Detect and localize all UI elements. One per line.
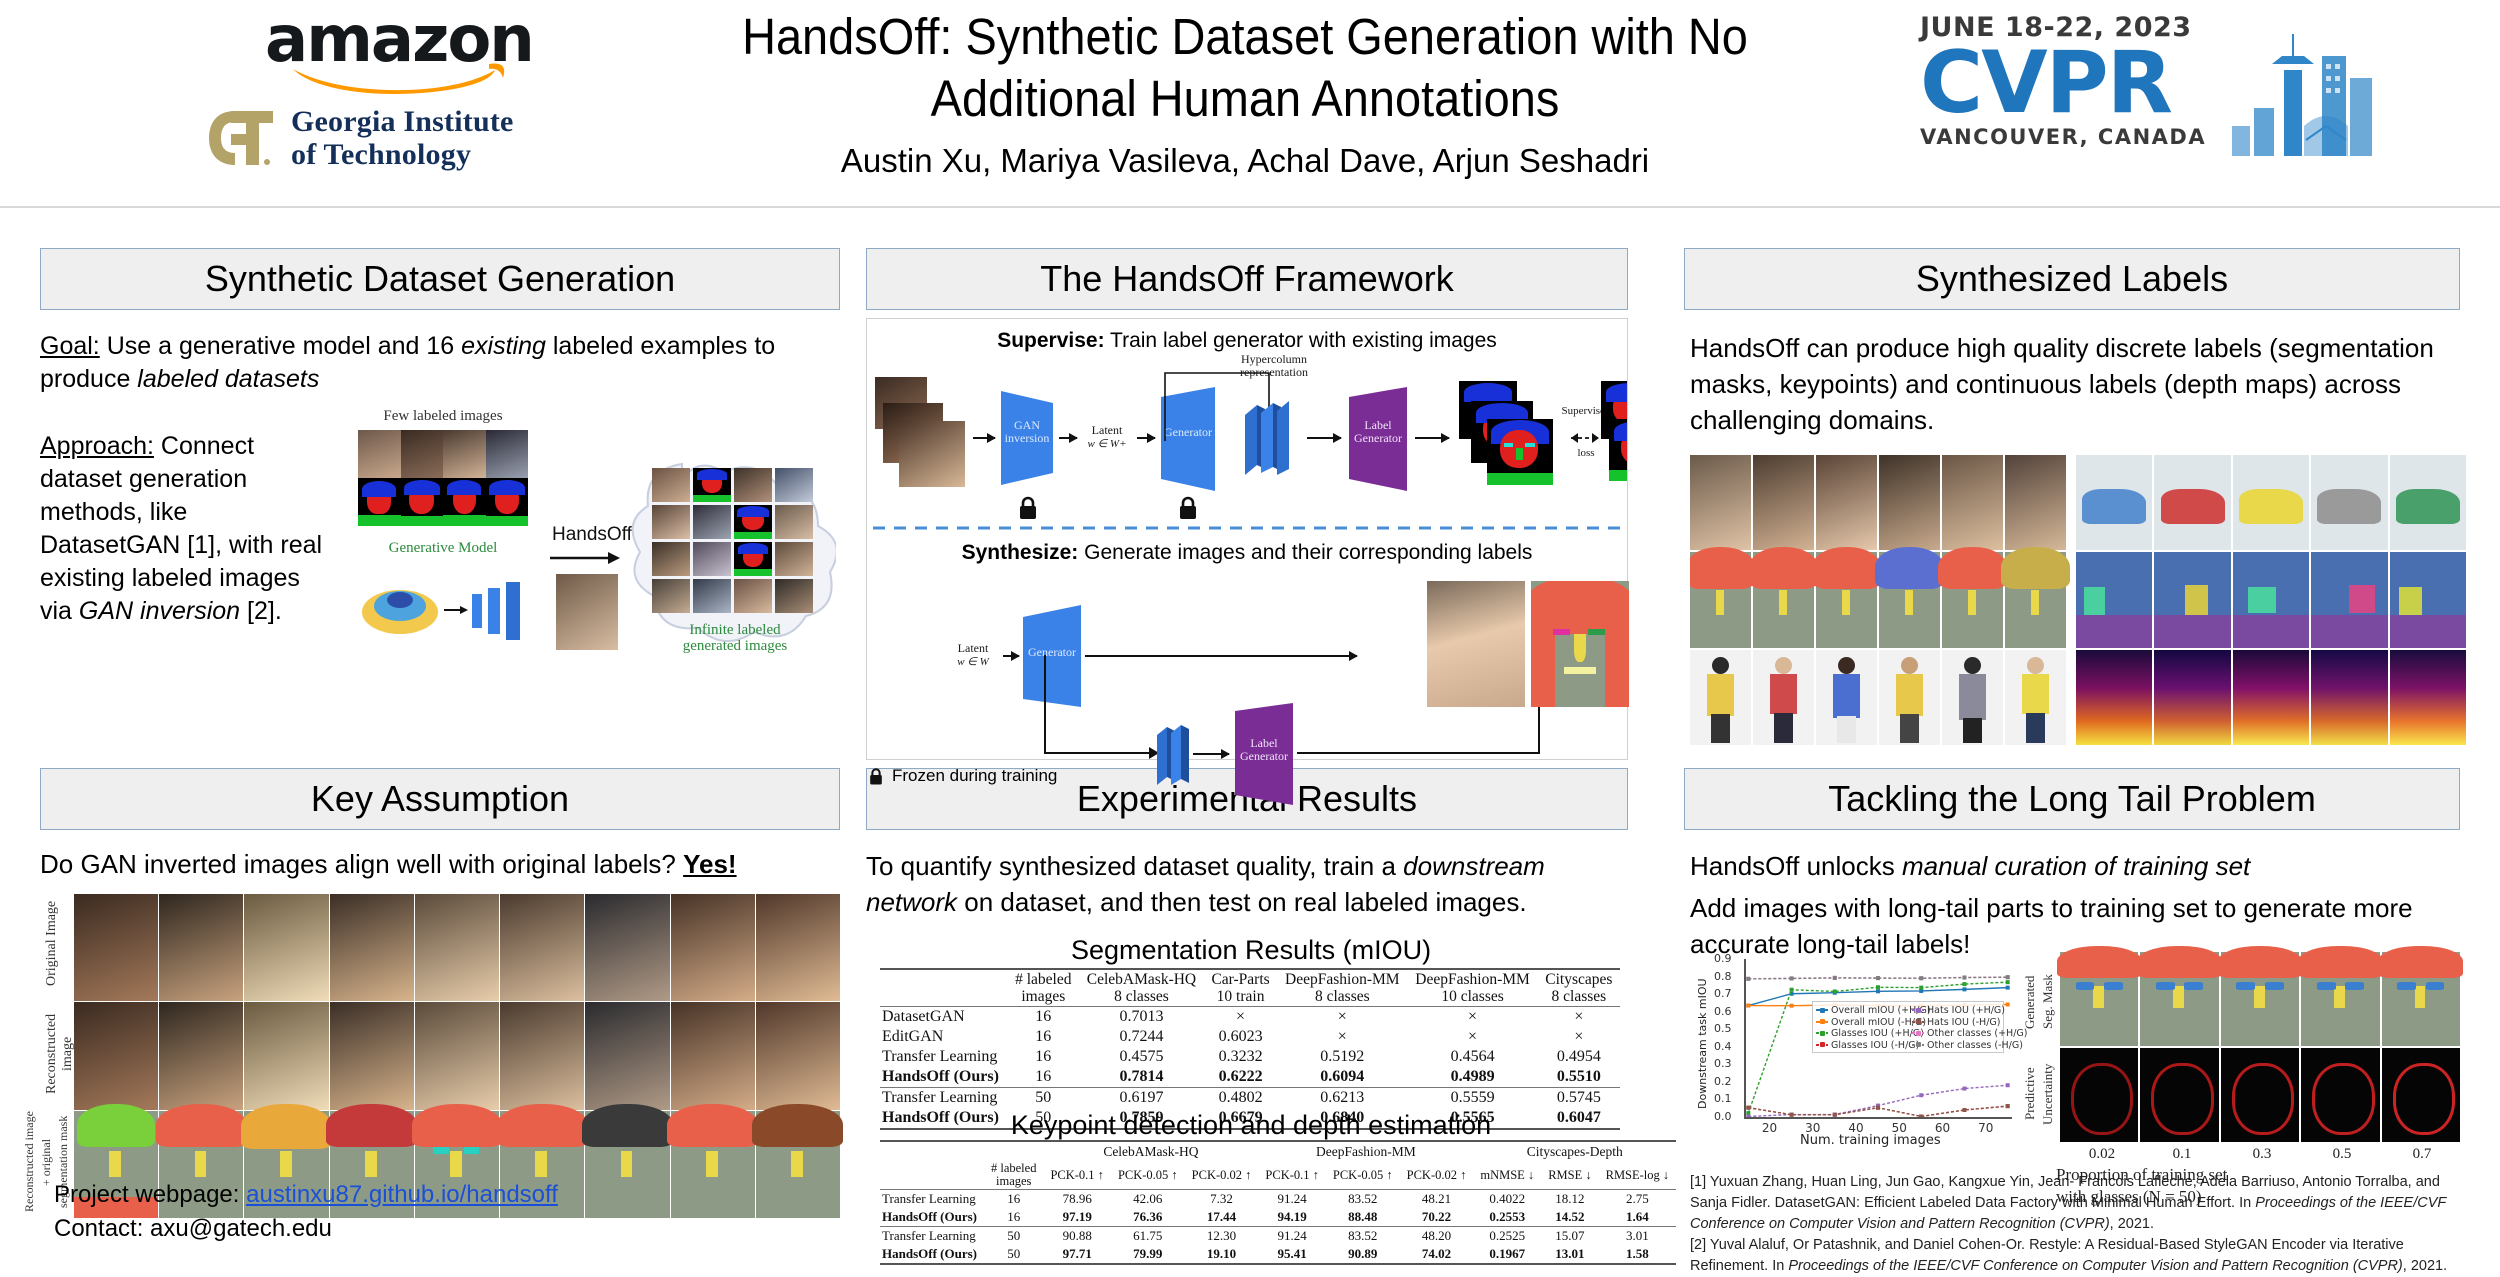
- thumb-uncertainty: [2382, 1048, 2460, 1142]
- seg-cell: 0.5510: [1538, 1067, 1620, 1088]
- segmentation-table-title: Segmentation Results (mIOU): [866, 935, 1636, 966]
- latent-word: Latent: [1079, 423, 1135, 437]
- gt-wordmark: Georgia Institute of Technology: [291, 105, 514, 171]
- thumb-mask: [1753, 552, 1814, 647]
- chart-ylabel: Downstream task mIOU: [1696, 963, 1712, 1125]
- thumb-mask: [734, 542, 772, 576]
- framework-diagram: Supervise: Train label generator with ex…: [866, 318, 1628, 760]
- legend-marker: [1820, 1042, 1825, 1047]
- frozen-note: Frozen during training: [868, 766, 1057, 786]
- reference-1-b: , 2021.: [2110, 1216, 2154, 1232]
- thumb-car: [2390, 455, 2466, 550]
- legend-marker: [1916, 1008, 1921, 1013]
- latent-word-2: Latent: [945, 641, 1001, 655]
- section-header-handsoff-framework: The HandsOff Framework: [866, 248, 1628, 310]
- ground-truth-mask-stack: [1601, 381, 1627, 485]
- kp-method-name: Transfer Learning: [880, 1227, 984, 1246]
- seg-cell: 16: [1008, 1047, 1079, 1067]
- vlabel-generated-seg-mask-b: Seg. Mask: [2040, 960, 2056, 1044]
- vancouver-skyline-icon: [2230, 30, 2380, 158]
- seg-cell: 0.6213: [1277, 1088, 1407, 1109]
- section-header-long-tail: Tackling the Long Tail Problem: [1684, 768, 2460, 830]
- seg-cell: ×: [1538, 1007, 1620, 1028]
- thumb-uncertainty: [2060, 1048, 2138, 1142]
- thumb-mask: [1942, 552, 2003, 647]
- kp-cell: 78.96: [1043, 1190, 1110, 1209]
- arrow-to-generator: [1137, 437, 1155, 439]
- kp-cell: 94.19: [1258, 1208, 1325, 1227]
- thumb-original: [244, 894, 328, 1001]
- thumb: [652, 542, 690, 576]
- thumb-mask: [358, 478, 401, 526]
- thumb: [693, 579, 731, 613]
- kp-col-header: PCK-0.02 ↑: [1400, 1161, 1474, 1190]
- thumb-seg-mask: [2140, 952, 2218, 1046]
- seg-cell: 0.7814: [1079, 1067, 1204, 1088]
- frozen-note-text: Frozen during training: [892, 766, 1057, 786]
- thumb-reconstructed: [415, 1002, 499, 1109]
- seg-cell: 16: [1008, 1027, 1079, 1047]
- kp-cell: 76.36: [1111, 1208, 1185, 1227]
- kp-cell: 7.32: [1185, 1190, 1259, 1209]
- kp-group-header: DeepFashion-MM: [1258, 1141, 1473, 1161]
- arrow-to-label-generator: [1307, 437, 1341, 439]
- thumb-original: [415, 894, 499, 1001]
- synthesized-mask-image: [1531, 581, 1629, 707]
- experimental-results-intro: To quantify synthesized dataset quality,…: [866, 848, 1636, 920]
- kp-cell: 1.58: [1599, 1245, 1677, 1264]
- thumb: [652, 468, 690, 502]
- thumb-overlay-mask: [756, 1111, 840, 1218]
- chart-ytick: 0.7: [1714, 987, 1732, 1000]
- key-assumption-answer: Yes!: [683, 849, 737, 879]
- thumb-mask: [486, 478, 529, 526]
- vlabel-generated-seg-mask-a: Generated: [2022, 960, 2038, 1044]
- thumb: [1879, 455, 1940, 550]
- supervise-bold: Supervise:: [997, 329, 1104, 352]
- georgia-tech-logo: Georgia Institute of Technology: [205, 100, 595, 175]
- thumb: [1816, 455, 1877, 550]
- vlabel-predictive-uncertainty-a: Predictive: [2022, 1052, 2038, 1136]
- dataset-generation-figure: Few labeled images: [330, 408, 840, 738]
- kp-cell: 13.01: [1541, 1245, 1598, 1264]
- long-tail-image-strip: [2060, 952, 2460, 1142]
- cvpr-logo: JUNE 18-22, 2023 CVPR VANCOUVER, CANADA: [1920, 12, 2380, 172]
- chart-marker: [1746, 1106, 1750, 1110]
- figure-label-generative-model: Generative Model: [338, 540, 548, 557]
- thumb-original: [585, 894, 669, 1001]
- thumb: [693, 542, 731, 576]
- arrow-to-gan-inversion: [973, 437, 995, 439]
- legend-label: Other classes (+H/G): [1927, 1028, 2027, 1039]
- chart-marker: [1962, 1087, 1966, 1091]
- kp-cell: 79.99: [1111, 1245, 1185, 1264]
- seg-cell: 0.7244: [1079, 1027, 1204, 1047]
- thumb-mask: [734, 505, 772, 539]
- kp-cell: 61.75: [1111, 1227, 1185, 1246]
- input-image-stack: [875, 377, 971, 481]
- key-assumption-grid: [74, 894, 840, 1218]
- long-tail-line1: HandsOff unlocks manual curation of trai…: [1690, 848, 2470, 884]
- table-row: HandsOff (Ours)160.78140.62220.60940.498…: [880, 1067, 1620, 1088]
- legend-label: Glasses IOU (+H/G): [1831, 1028, 1924, 1039]
- latent-space-2: w ∈ W: [945, 655, 1001, 669]
- kp-col-header: # labeledimages: [984, 1161, 1043, 1190]
- chart-marker: [1962, 976, 1966, 980]
- kp-cell: 16: [984, 1208, 1043, 1227]
- hypercolumn-block-2: [1153, 719, 1211, 795]
- thumb-seg-mask: [2382, 952, 2460, 1046]
- supervise-rest: Train label generator with existing imag…: [1105, 329, 1497, 352]
- poster-header: amazon Georgia Institute of Technology: [0, 0, 2500, 208]
- goal-italic: existing: [461, 332, 546, 360]
- seg-cell: ×: [1407, 1007, 1537, 1028]
- thumb-car: [2233, 455, 2309, 550]
- seg-cell: 0.4989: [1407, 1067, 1537, 1088]
- chart-marker: [1919, 986, 1923, 990]
- thumb: [734, 468, 772, 502]
- thumb-reconstructed: [74, 1002, 158, 1109]
- seg-cell: 0.6023: [1204, 1027, 1277, 1047]
- table-row: DatasetGAN160.7013××××: [880, 1007, 1620, 1028]
- thumb-mask: [2005, 552, 2066, 647]
- thumb: [1753, 455, 1814, 550]
- chart-xtick: 20: [1762, 1121, 1777, 1135]
- proportion-tick: 0.5: [2322, 1146, 2362, 1163]
- thumb: [401, 430, 444, 478]
- intro-text-b: on dataset, and then test on real labele…: [957, 887, 1527, 917]
- seg-cell: 0.7013: [1079, 1007, 1204, 1028]
- amazon-logo: amazon: [265, 8, 540, 88]
- kp-cell: 50: [984, 1227, 1043, 1246]
- kp-cell: 97.71: [1043, 1245, 1110, 1264]
- chart-ytick: 0.6: [1714, 1005, 1732, 1018]
- row-label-original-image: Original Image: [44, 898, 62, 988]
- legend-marker: [1916, 1042, 1921, 1047]
- kp-method-name: HandsOff (Ours): [880, 1208, 984, 1227]
- poster-root: amazon Georgia Institute of Technology: [0, 0, 2500, 1250]
- kp-group-header: Cityscapes-Depth: [1473, 1141, 1676, 1161]
- thumb-mask: [1816, 552, 1877, 647]
- supervised-loss-arrow: [1565, 427, 1605, 449]
- contact-line: Contact: axu@gatech.edu: [54, 1212, 558, 1246]
- thumb-car: [2076, 455, 2152, 550]
- chart-ytick: 0.3: [1714, 1057, 1732, 1070]
- keypoint-depth-table: CelebAMask-HQDeepFashion-MMCityscapes-De…: [880, 1140, 1676, 1265]
- long-tail-line-chart: Downstream task mIOU 0.00.10.20.30.40.50…: [1700, 955, 2030, 1145]
- thumb-street-seg: [2154, 552, 2230, 647]
- project-webpage-line: Project webpage: austinxu87.github.io/ha…: [54, 1178, 558, 1212]
- section-title-text: Synthetic Dataset Generation: [205, 258, 675, 300]
- thumb-seg-mask: [2301, 952, 2379, 1046]
- seg-cell: 0.6094: [1277, 1067, 1407, 1088]
- thumb-original: [74, 894, 158, 1001]
- kp-cell: 1.64: [1599, 1208, 1677, 1227]
- kp-cell: 14.52: [1541, 1208, 1598, 1227]
- chart-ytick: 0.5: [1714, 1022, 1732, 1035]
- hypercolumn-block: [1239, 395, 1303, 481]
- chart-marker: [1833, 989, 1837, 993]
- thumb-uncertainty: [2301, 1048, 2379, 1142]
- seg-cell: 0.6222: [1204, 1067, 1277, 1088]
- thumb: [734, 579, 772, 613]
- kp-col-header: RMSE-log ↓: [1599, 1161, 1677, 1190]
- chart-marker: [1962, 1108, 1966, 1112]
- synthesize-bold: Synthesize:: [962, 541, 1079, 564]
- chart-xtick: 70: [1978, 1121, 1993, 1135]
- seg-col-header: DeepFashion-MM8 classes: [1277, 969, 1407, 1007]
- thumb: [775, 468, 813, 502]
- legend-marker: [1916, 1019, 1921, 1024]
- segmentation-results-table: # labeledimagesCelebAMask-HQ8 classesCar…: [880, 968, 1620, 1130]
- gt-monogram-icon: [205, 107, 277, 169]
- seg-col-header: Cityscapes8 classes: [1538, 969, 1620, 1007]
- thumb-uncertainty: [2221, 1048, 2299, 1142]
- thumb-mask: [1879, 552, 1940, 647]
- legend-marker: [1916, 1031, 1921, 1036]
- figure-label-few-labeled: Few labeled images: [338, 408, 548, 425]
- thumb: [775, 542, 813, 576]
- generated-images-grid: [652, 468, 818, 618]
- approach-label: Approach:: [40, 432, 154, 460]
- seg-method-name: DatasetGAN: [880, 1007, 1008, 1028]
- thumb-uncertainty: [2140, 1048, 2218, 1142]
- chart-marker: [2006, 1083, 2010, 1087]
- kp-cell: 17.44: [1185, 1208, 1259, 1227]
- kp-cell: 91.24: [1258, 1227, 1325, 1246]
- chart-marker: [1790, 976, 1794, 980]
- seg-method-name: HandsOff (Ours): [880, 1067, 1008, 1088]
- reference-2-italic: Proceedings of the IEEE/CVF Conference o…: [1788, 1258, 2402, 1274]
- chart-marker: [1790, 988, 1794, 992]
- kp-col-header: mNMSE ↓: [1473, 1161, 1541, 1190]
- project-webpage-link[interactable]: austinxu87.github.io/handsoff: [246, 1181, 558, 1208]
- chart-marker: [1962, 987, 1966, 991]
- thumb-mask: [401, 478, 444, 526]
- kp-cell: 83.52: [1326, 1227, 1400, 1246]
- seg-cell: 0.5559: [1407, 1088, 1537, 1109]
- synthesized-face-image: [1427, 581, 1525, 707]
- chart-marker: [1919, 1093, 1923, 1097]
- seg-method-name: Transfer Learning: [880, 1047, 1008, 1067]
- seg-cell: 0.5745: [1538, 1088, 1620, 1109]
- synthesized-labels-body: HandsOff can produce high quality discre…: [1690, 330, 2470, 438]
- seg-cell: 0.6197: [1079, 1088, 1204, 1109]
- synthesize-rest: Generate images and their corresponding …: [1078, 541, 1532, 564]
- legend-label: Glasses IOU (-H/G): [1831, 1040, 1919, 1051]
- thumb-depth: [2311, 650, 2387, 745]
- kp-col-header: PCK-0.05 ↑: [1111, 1161, 1185, 1190]
- section-title-text: Synthesized Labels: [1916, 258, 2228, 300]
- thumb-reconstructed: [671, 1002, 755, 1109]
- seg-cell: 0.4564: [1407, 1047, 1537, 1067]
- chart-marker: [1962, 982, 1966, 986]
- key-assumption-question-text: Do GAN inverted images align well with o…: [40, 849, 683, 879]
- table-row: Transfer Learning500.61970.48020.62130.5…: [880, 1088, 1620, 1109]
- thumb-depth: [2154, 650, 2230, 745]
- thumb: [486, 430, 529, 478]
- chart-x-axis: [1744, 1117, 2012, 1119]
- faces-and-people-grid: [1690, 455, 2066, 745]
- thumb: [358, 430, 401, 478]
- section-title-text: The HandsOff Framework: [1040, 258, 1453, 300]
- thumb-street-seg: [2076, 552, 2152, 647]
- chart-ytick: 0.8: [1714, 970, 1732, 983]
- kp-col-header: PCK-0.1 ↑: [1043, 1161, 1110, 1190]
- title-block: HandsOff: Synthetic Dataset Generation w…: [680, 6, 1810, 180]
- chart-marker: [2006, 986, 2010, 990]
- chart-ytick: 0.4: [1714, 1040, 1732, 1053]
- kp-cell: 3.01: [1599, 1227, 1677, 1246]
- chart-marker: [1876, 989, 1880, 993]
- proportion-tick: 0.7: [2402, 1146, 2442, 1163]
- long-tail-line1-italic: manual curation of training set: [1902, 851, 2250, 881]
- thumb-depth: [2390, 650, 2466, 745]
- latent-label-1: Latent w ∈ W+: [1079, 423, 1135, 451]
- footer-contact-block: Project webpage: austinxu87.github.io/ha…: [54, 1178, 558, 1246]
- table-row: Transfer Learning5090.8861.7512.3091.248…: [880, 1227, 1676, 1246]
- reference-2: [2] Yuval Alaluf, Or Patashnik, and Dani…: [1690, 1235, 2480, 1277]
- thumb-reconstructed: [330, 1002, 414, 1109]
- seg-cell: 0.5192: [1277, 1047, 1407, 1067]
- handsoff-arrow-icon: [550, 548, 630, 568]
- section-title-text: Tackling the Long Tail Problem: [1828, 778, 2316, 820]
- latent-label-2: Latent w ∈ W: [945, 641, 1001, 669]
- chart-marker: [2006, 980, 2010, 984]
- section-header-key-assumption: Key Assumption: [40, 768, 840, 830]
- few-labeled-grid: [358, 430, 528, 526]
- supervise-caption: Supervise: Train label generator with ex…: [867, 329, 1627, 353]
- thumb-reconstructed: [500, 1002, 584, 1109]
- predicted-mask-stack: [1459, 381, 1563, 485]
- long-tail-line1-a: HandsOff unlocks: [1690, 851, 1902, 881]
- chart-ytick: 0.9: [1714, 952, 1732, 965]
- seg-cell: ×: [1277, 1007, 1407, 1028]
- table-row: EditGAN160.72440.6023×××: [880, 1027, 1620, 1047]
- kp-cell: 90.89: [1326, 1245, 1400, 1264]
- thumb-mask: [693, 468, 731, 502]
- thumb-original: [330, 894, 414, 1001]
- thumb: [693, 505, 731, 539]
- hypercolumn-label: Hypercolumn representation: [1219, 353, 1329, 379]
- thumb: [775, 579, 813, 613]
- chart-marker: [1746, 1004, 1750, 1008]
- kp-cell: 70.22: [1400, 1208, 1474, 1227]
- thumb-reconstructed: [244, 1002, 328, 1109]
- thumb-original: [671, 894, 755, 1001]
- gt-wordmark-line1: Georgia Institute: [291, 105, 514, 138]
- seg-cell: ×: [1407, 1027, 1537, 1047]
- latent-space: w ∈ W+: [1079, 437, 1135, 451]
- section-divider-dashed: [873, 525, 1623, 531]
- thumb-seg-mask: [2060, 952, 2138, 1046]
- label-generator-label: Label Generator: [1343, 419, 1413, 445]
- thumb-car: [2154, 455, 2230, 550]
- thumb-mask: [443, 478, 486, 526]
- section-header-synthesized-labels: Synthesized Labels: [1684, 248, 2460, 310]
- thumb-person: [1690, 650, 1751, 745]
- thumb-depth: [2233, 650, 2309, 745]
- thumb-original: [500, 894, 584, 1001]
- kp-cell: 0.2525: [1473, 1227, 1541, 1246]
- seg-cell: ×: [1277, 1027, 1407, 1047]
- kp-method-name: Transfer Learning: [880, 1190, 984, 1209]
- legend-marker: [1820, 1031, 1825, 1036]
- thumb-street-seg: [2233, 552, 2309, 647]
- gt-wordmark-line2: of Technology: [291, 138, 514, 171]
- thumb-person: [1879, 650, 1940, 745]
- thumb-original: [756, 894, 840, 1001]
- thumb-street-seg: [2390, 552, 2466, 647]
- thumb-single-face: [556, 574, 618, 650]
- kp-col-header: PCK-0.1 ↑: [1258, 1161, 1325, 1190]
- kp-cell: 0.2553: [1473, 1208, 1541, 1227]
- seg-col-header: # labeledimages: [1008, 969, 1079, 1007]
- chart-marker: [1746, 977, 1750, 981]
- table-row: Transfer Learning1678.9642.067.3291.2483…: [880, 1190, 1676, 1209]
- seg-cell: 50: [1008, 1088, 1079, 1109]
- chart-marker: [2006, 1104, 2010, 1108]
- seg-method-name: Transfer Learning: [880, 1088, 1008, 1109]
- kp-cell: 2.75: [1599, 1190, 1677, 1209]
- table-row: Transfer Learning160.45750.32320.51920.4…: [880, 1047, 1620, 1067]
- kp-cell: 91.24: [1258, 1190, 1325, 1209]
- kp-cell: 0.1967: [1473, 1245, 1541, 1264]
- chart-marker: [1876, 985, 1880, 989]
- section-title-text: Key Assumption: [311, 778, 569, 820]
- kp-cell: 0.4022: [1473, 1190, 1541, 1209]
- chart-marker: [2006, 975, 2010, 979]
- chart-xlabel: Num. training images: [1800, 1133, 1941, 1148]
- goal-label: Goal:: [40, 332, 100, 360]
- intro-text-a: To quantify synthesized dataset quality,…: [866, 851, 1403, 881]
- seg-cell: 16: [1008, 1067, 1079, 1088]
- project-webpage-label: Project webpage:: [54, 1181, 246, 1208]
- chart-ytick: 0.0: [1714, 1110, 1732, 1123]
- goal-italic2: labeled datasets: [137, 365, 319, 393]
- table-row: HandsOff (Ours)1697.1976.3617.4494.1988.…: [880, 1208, 1676, 1227]
- seg-cell: ×: [1538, 1027, 1620, 1047]
- key-assumption-question: Do GAN inverted images align well with o…: [40, 848, 840, 881]
- chart-marker: [1876, 976, 1880, 980]
- goal-paragraph: Goal: Use a generative model and 16 exis…: [40, 330, 810, 396]
- chart-marker: [1833, 1113, 1837, 1117]
- amazon-smile-icon: [289, 60, 509, 94]
- cars-streets-depth-grid: [2076, 455, 2466, 745]
- legend-label: Other classes (-H/G): [1927, 1040, 2023, 1051]
- kp-cell: 95.41: [1258, 1245, 1325, 1264]
- kp-col-header: PCK-0.02 ↑: [1185, 1161, 1259, 1190]
- seg-cell: ×: [1204, 1007, 1277, 1028]
- thumb-street-seg: [2311, 552, 2387, 647]
- seg-cell: 0.4575: [1079, 1047, 1204, 1067]
- reference-2-b: , 2021.: [2403, 1258, 2447, 1274]
- label-generator-text: Label Generator: [1343, 419, 1413, 445]
- thumb: [652, 579, 690, 613]
- kp-cell: 12.30: [1185, 1227, 1259, 1246]
- chart-marker: [1746, 1114, 1750, 1117]
- chart-marker: [1790, 1004, 1794, 1008]
- references-block: [1] Yuxuan Zhang, Huan Ling, Jun Gao, Ka…: [1690, 1172, 2480, 1277]
- thumb-overlay-mask: [585, 1111, 669, 1218]
- synthesized-labels-gallery: [1690, 455, 2466, 745]
- thumb: [775, 505, 813, 539]
- chart-marker: [1790, 1113, 1794, 1117]
- thumb-mask: [1690, 552, 1751, 647]
- kp-cell: 74.02: [1400, 1245, 1474, 1264]
- thumb-person: [1942, 650, 2003, 745]
- thumb: [652, 505, 690, 539]
